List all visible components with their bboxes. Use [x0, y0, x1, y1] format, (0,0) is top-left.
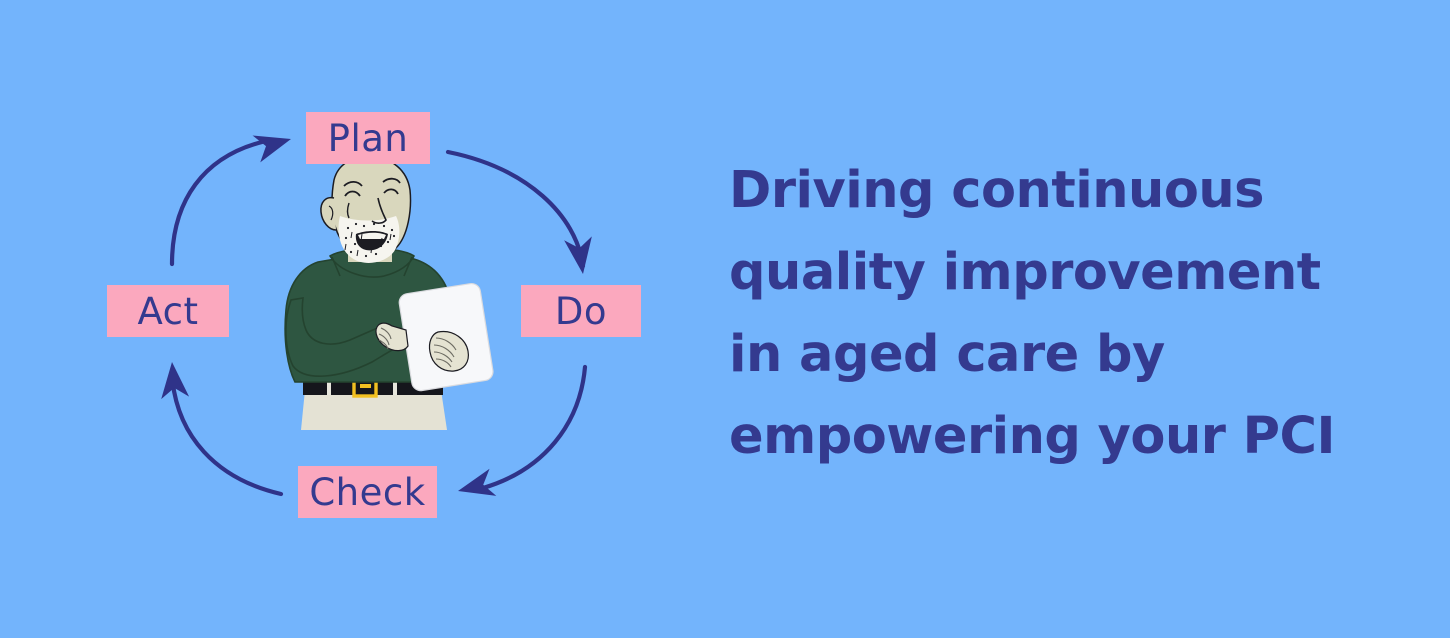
elderly-man-illustration — [285, 157, 494, 430]
cycle-node-do[interactable]: Do — [521, 285, 641, 337]
cycle-node-act[interactable]: Act — [107, 285, 229, 337]
cycle-node-do-label: Do — [555, 293, 607, 330]
headline-line-4: empowering your PCI — [729, 396, 1429, 478]
cycle-node-check[interactable]: Check — [298, 466, 437, 518]
belt-buckle-tongue — [360, 384, 371, 388]
arrowhead-plan-to-do-icon — [564, 236, 597, 276]
arrow-do-to-check-shaft — [483, 367, 585, 488]
pdca-cycle-diagram: Plan Do Check Act — [0, 0, 710, 638]
headline-line-3: in aged care by — [729, 314, 1429, 396]
cycle-node-check-label: Check — [309, 474, 425, 511]
headline-line-2: quality improvement — [729, 232, 1429, 314]
cycle-node-plan[interactable]: Plan — [306, 112, 430, 164]
arrow-check-to-act-shaft — [172, 376, 281, 494]
arrow-plan-to-do-shaft — [448, 152, 583, 266]
arrow-act-to-plan-shaft — [172, 142, 262, 264]
slide-canvas: Plan Do Check Act Driving continuous qua… — [0, 0, 1450, 638]
headline-line-1: Driving continuous — [729, 150, 1429, 232]
headline: Driving continuous quality improvement i… — [729, 150, 1429, 478]
cycle-node-plan-label: Plan — [328, 120, 409, 157]
ear — [321, 198, 336, 230]
cycle-node-act-label: Act — [137, 293, 198, 330]
